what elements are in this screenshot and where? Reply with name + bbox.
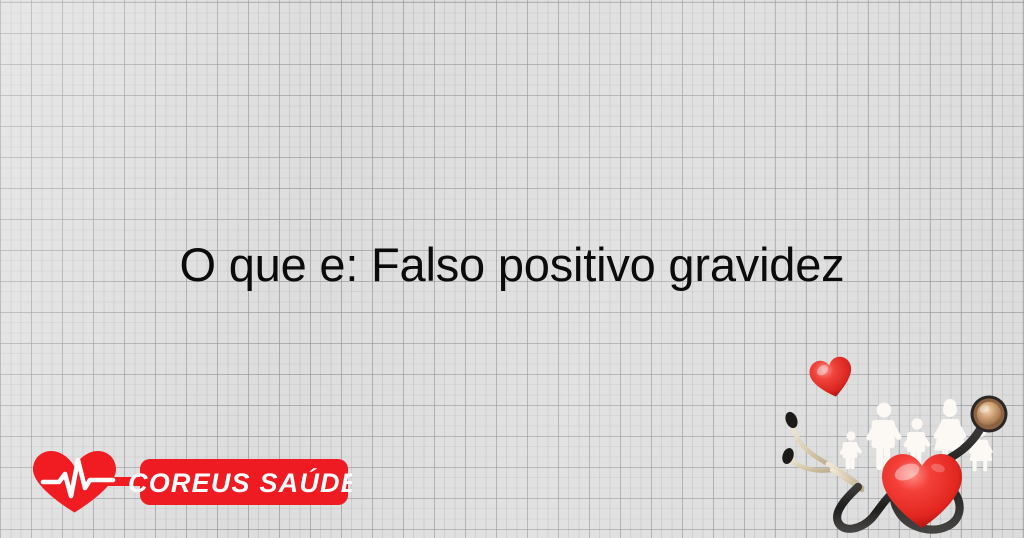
stethoscope-chestpiece [971,396,1008,433]
stethoscope-eartip-left [783,410,800,430]
large-heart-icon [882,454,962,528]
brand-logo[interactable]: COREUS SAÚDE [27,448,352,514]
small-heart-icon [807,355,856,401]
slide-canvas: O que e: Falso positivo gravidez COREUS … [0,0,1024,538]
medical-illustration [776,348,1024,538]
brand-name: COREUS SAÚDE [128,467,352,498]
page-title: O que e: Falso positivo gravidez [0,236,1024,294]
